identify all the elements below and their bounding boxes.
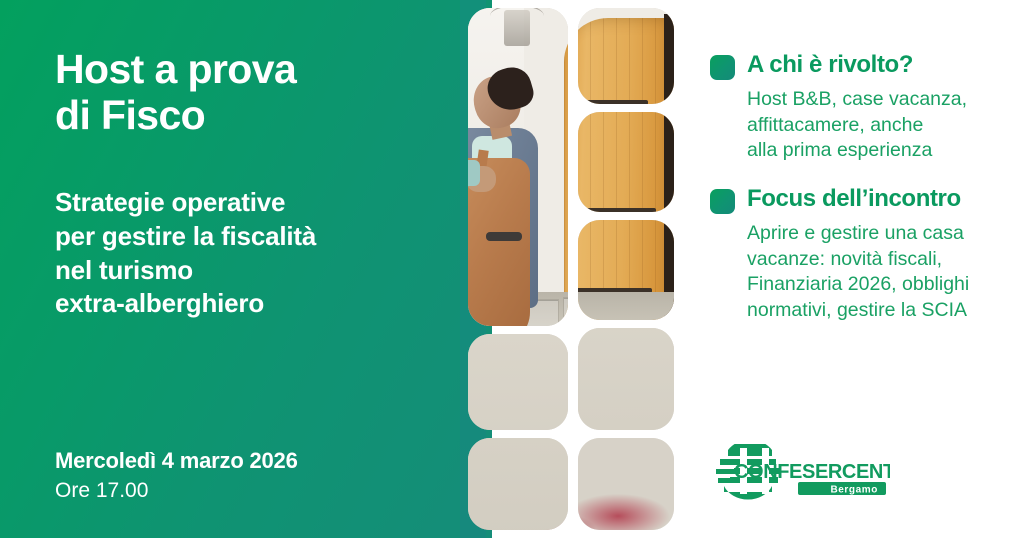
photo-tile [468, 334, 568, 430]
body-line: affittacamere, anche [747, 113, 1020, 139]
info-block-body: Host B&B, case vacanza, affittacamere, a… [747, 87, 1020, 164]
page-subtitle: Strategie operative per gestire la fisca… [55, 186, 455, 321]
photo-tile [578, 112, 674, 212]
body-line: Host B&B, case vacanza, [747, 87, 1020, 113]
body-line: Finanziaria 2026, obblighi [747, 272, 1020, 298]
logo-locality: Bergamo [830, 485, 878, 496]
title-line-2: di Fisco [55, 93, 455, 139]
left-green-panel: Host a prova di Fisco Strategie operativ… [0, 0, 492, 538]
info-block-heading: Focus dell’incontro [747, 186, 961, 212]
info-block-audience: A chi è rivolto? Host B&B, case vacanza,… [710, 52, 1020, 164]
body-line: alla prima esperienza [747, 138, 1020, 164]
photo-scene [468, 438, 568, 530]
square-bullet-icon [710, 189, 735, 214]
photo-tile [578, 8, 674, 104]
photo-tile [578, 328, 674, 430]
photo-scene [578, 112, 674, 212]
info-block-heading-row: Focus dell’incontro [710, 186, 1020, 214]
subtitle-line-2: per gestire la fiscalità [55, 220, 455, 254]
body-line: Aprire e gestire una casa [747, 221, 1020, 247]
square-bullet-icon [710, 55, 735, 80]
body-line: normativi, gestire la SCIA [747, 298, 1020, 324]
event-date: Mercoledì 4 marzo 2026 [55, 448, 455, 475]
photo-tile [578, 438, 674, 530]
photo-scene [578, 438, 674, 530]
photo-tile [578, 220, 674, 320]
photo-scene [578, 8, 674, 104]
photo-tile [468, 8, 568, 326]
body-line: vacanze: novità fiscali, [747, 247, 1020, 273]
photo-scene [468, 334, 568, 430]
info-block-heading: A chi è rivolto? [747, 52, 913, 78]
page-title: Host a prova di Fisco [55, 47, 455, 139]
event-datetime: Mercoledì 4 marzo 2026 Ore 17.00 [55, 448, 455, 504]
info-block-focus: Focus dell’incontro Aprire e gestire una… [710, 186, 1020, 324]
confesercenti-logo: CONFESERCENTI Bergamo [710, 444, 890, 500]
event-time: Ore 17.00 [55, 477, 455, 504]
info-block-heading-row: A chi è rivolto? [710, 52, 1020, 80]
photo-mosaic [468, 0, 674, 538]
photo-tile [468, 438, 568, 530]
info-block-body: Aprire e gestire una casa vacanze: novit… [747, 221, 1020, 324]
photo-scene [468, 8, 568, 326]
photo-scene [578, 328, 674, 430]
subtitle-line-4: extra-alberghiero [55, 287, 455, 321]
photo-scene [578, 220, 674, 320]
title-line-1: Host a prova [55, 47, 455, 93]
subtitle-line-3: nel turismo [55, 254, 455, 288]
poster-canvas: Host a prova di Fisco Strategie operativ… [0, 0, 1024, 538]
logo-wordmark: CONFESERCENTI [734, 461, 890, 483]
confesercenti-globe-icon: CONFESERCENTI Bergamo [710, 444, 890, 500]
subtitle-line-1: Strategie operative [55, 186, 455, 220]
